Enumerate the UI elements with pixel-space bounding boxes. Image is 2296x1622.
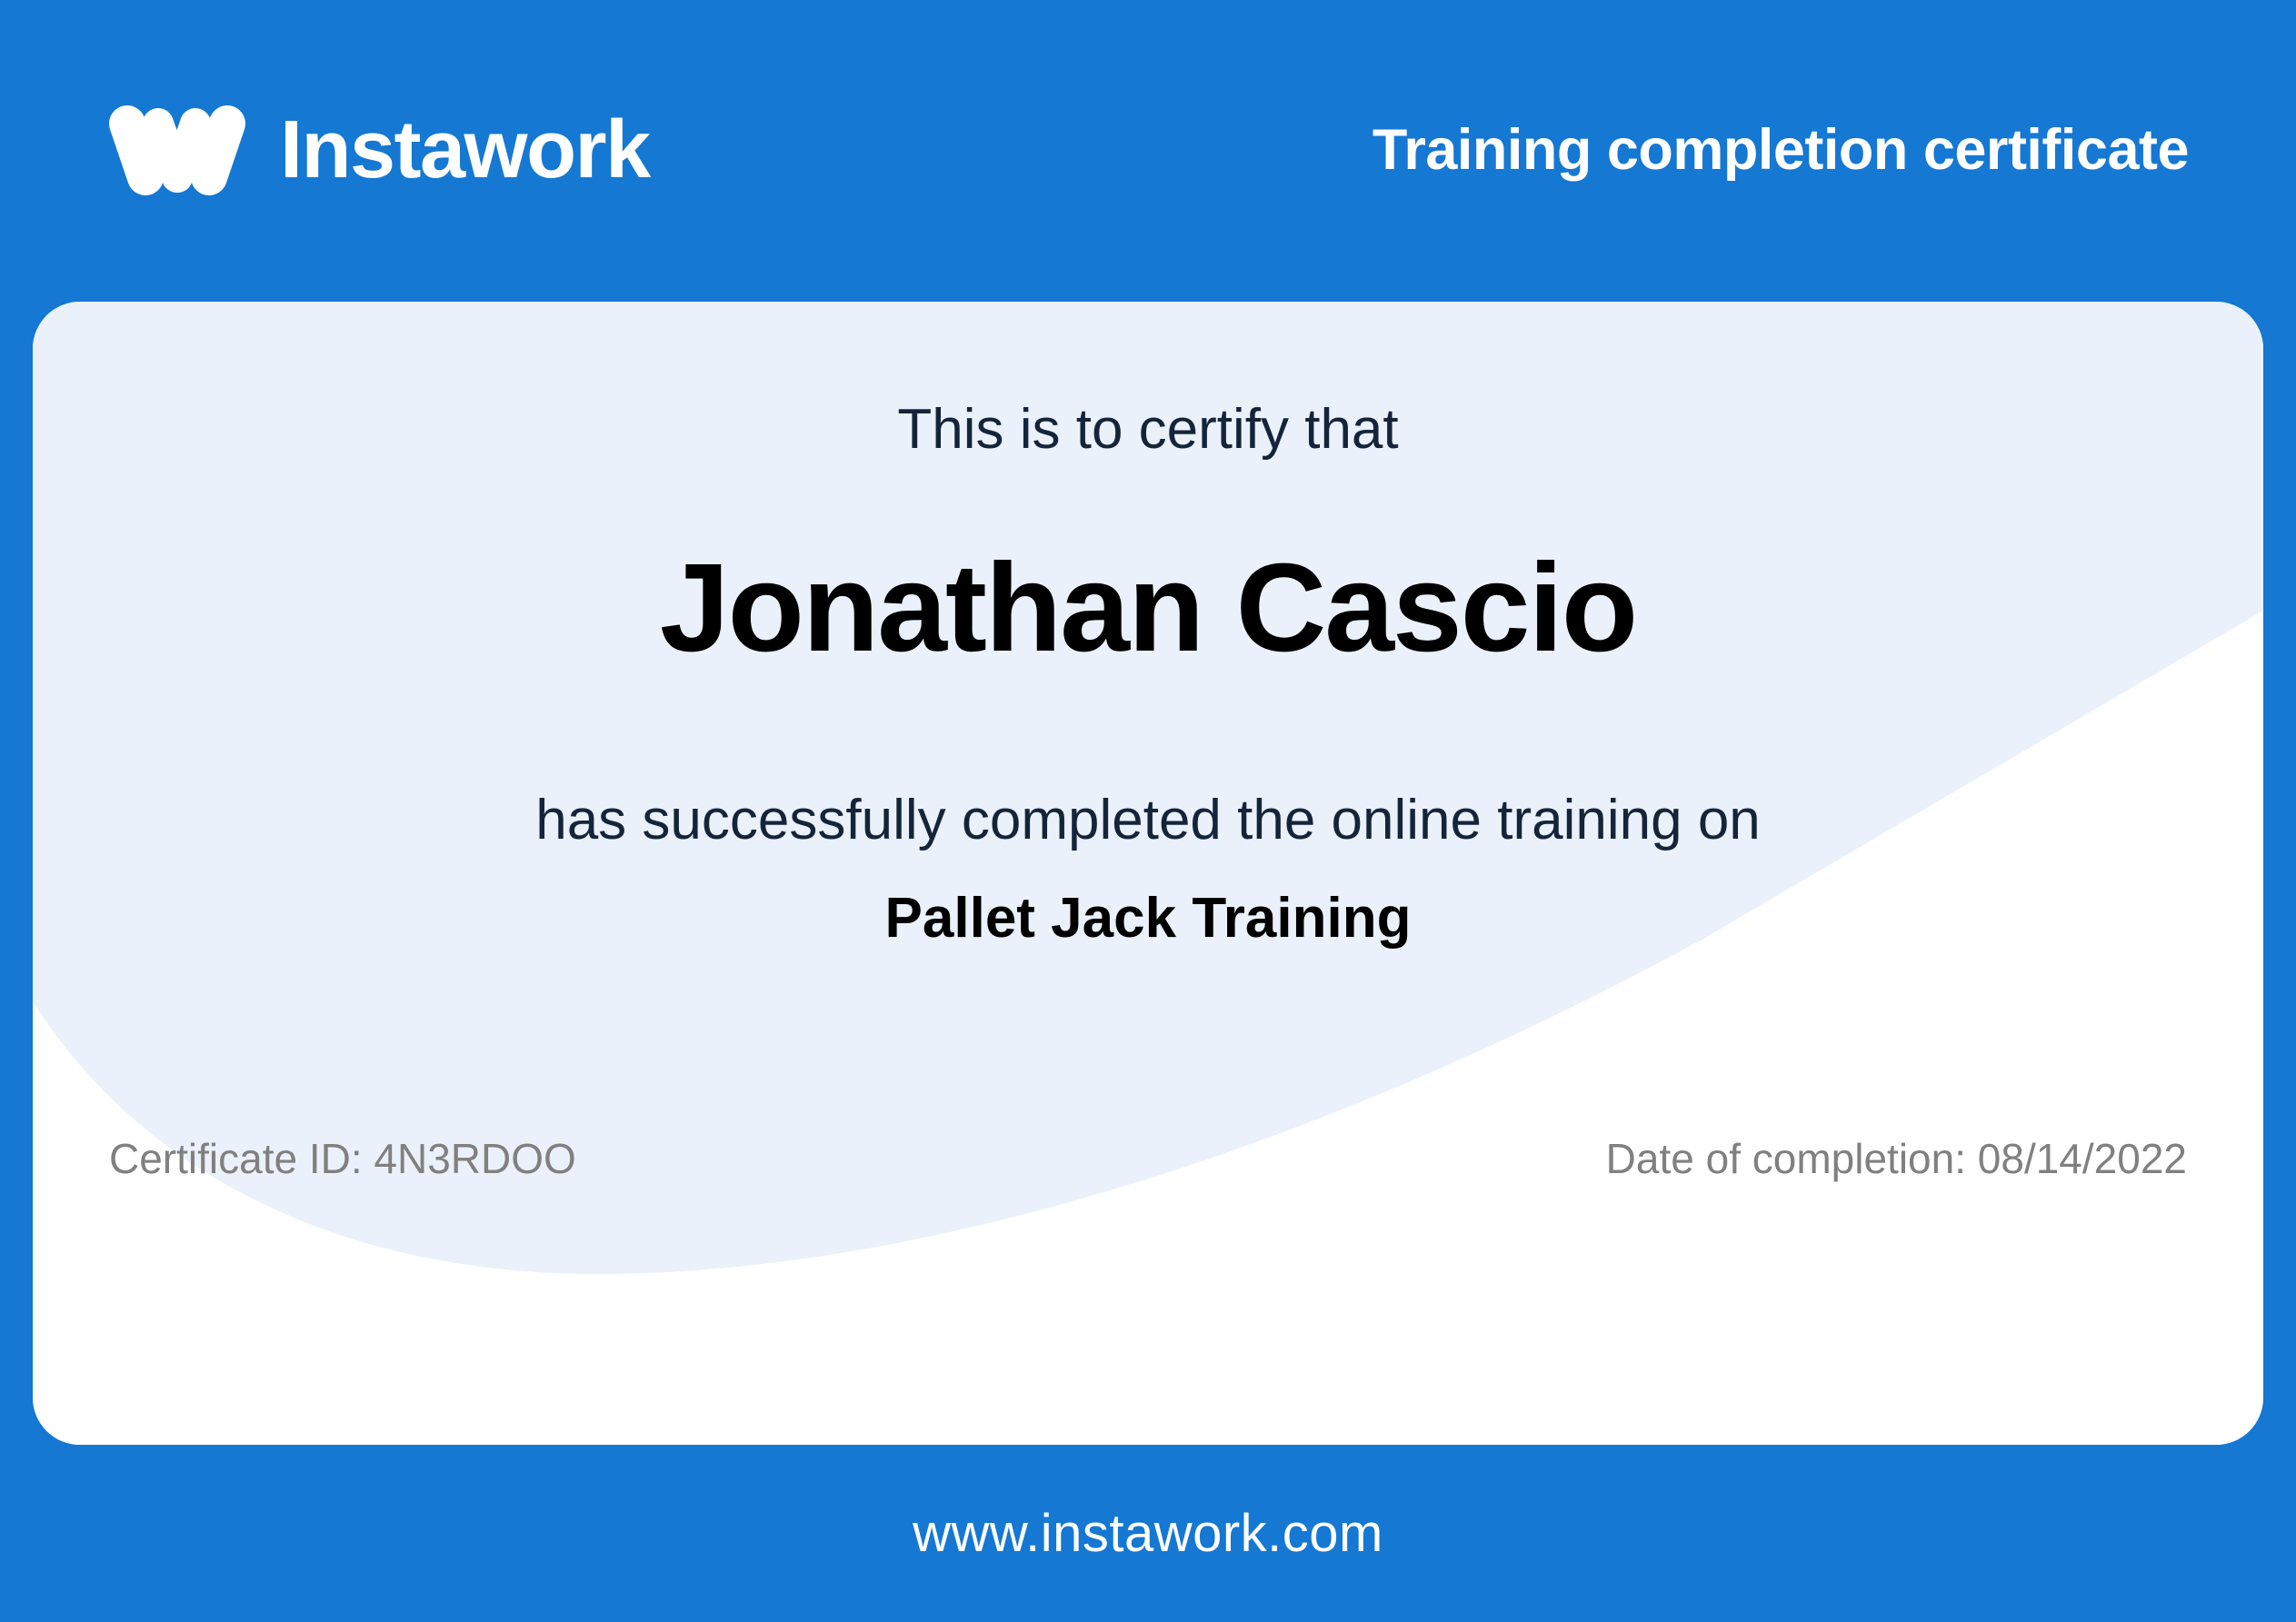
recipient-name: Jonathan Cascio — [33, 540, 2263, 678]
website-url[interactable]: www.instawork.com — [913, 1508, 1383, 1560]
completion-line: has successfully completed the online tr… — [33, 792, 2263, 849]
completion-date: Date of completion: 08/14/2022 — [1606, 1138, 2187, 1179]
brand-name: Instawork — [280, 109, 650, 191]
certificate-id: Certificate ID: 4N3RDOO — [109, 1138, 576, 1179]
certificate-meta-row: Certificate ID: 4N3RDOO Date of completi… — [33, 1138, 2263, 1179]
instawork-w-logo-icon — [107, 103, 247, 197]
brand-lockup: Instawork — [107, 103, 650, 197]
course-name: Pallet Jack Training — [33, 891, 2263, 947]
certificate-header-title: Training completion certificate — [1373, 122, 2189, 179]
certificate-header: Instawork Training completion certificat… — [0, 0, 2296, 300]
card-content: This is to certify that Jonathan Cascio … — [33, 302, 2263, 1445]
certify-line: This is to certify that — [33, 402, 2263, 458]
certificate-card: This is to certify that Jonathan Cascio … — [33, 302, 2263, 1445]
certificate-footer: www.instawork.com — [0, 1445, 2296, 1622]
certificate-page: Instawork Training completion certificat… — [0, 0, 2296, 1622]
